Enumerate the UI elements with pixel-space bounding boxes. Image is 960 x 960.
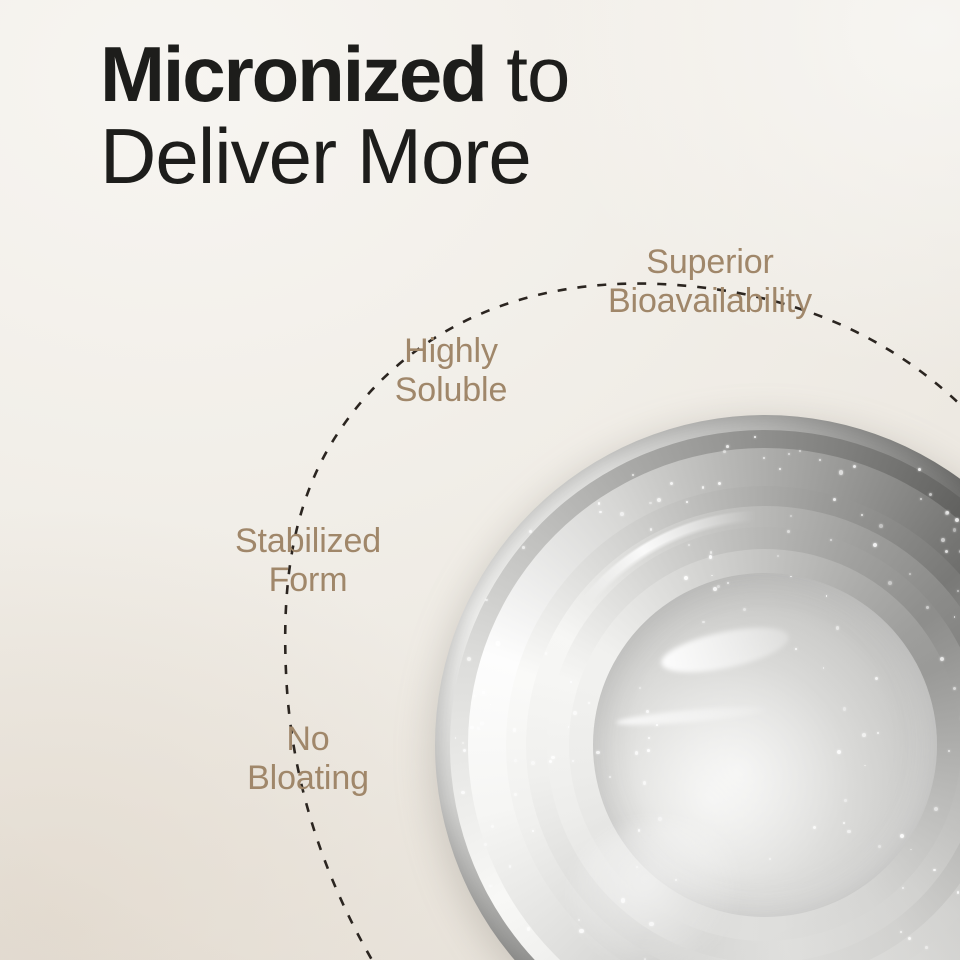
benefit-label-highly-soluble: Highly Soluble — [316, 332, 586, 410]
benefit-label-superior-bioavailability: Superior Bioavailability — [530, 243, 890, 321]
benefit-label-no-bloating: No Bloating — [163, 720, 453, 798]
headline-line-2: Deliver More — [100, 118, 569, 195]
headline: Micronized to Deliver More — [100, 36, 569, 195]
headline-emphasis: Micronized — [100, 30, 486, 118]
headline-line-1: Micronized to — [100, 36, 569, 113]
marketing-graphic-canvas: Micronized to Deliver More Superior Bioa… — [0, 0, 960, 960]
headline-line-1-rest: to — [486, 30, 570, 118]
benefit-label-stabilized-form: Stabilized Form — [163, 522, 453, 600]
